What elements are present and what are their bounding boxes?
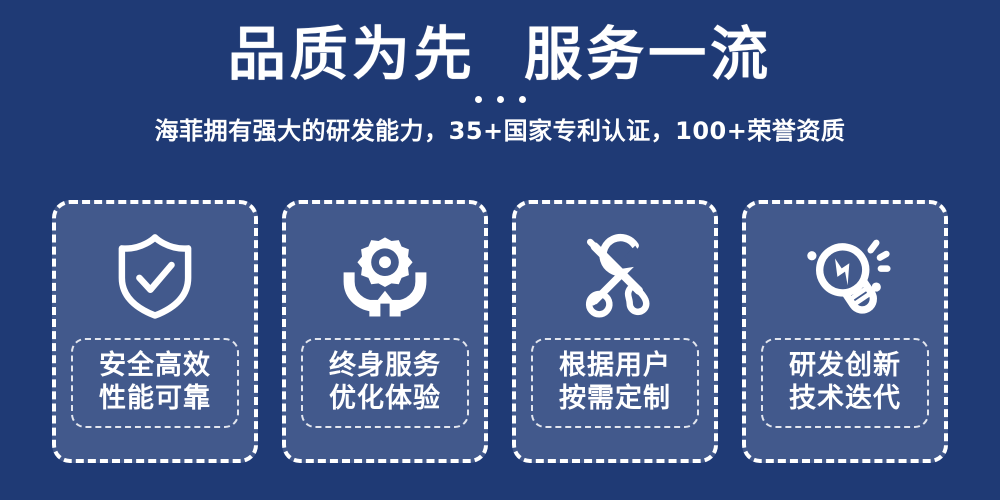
feature-card-label: 终身服务 优化体验	[301, 338, 469, 428]
feature-card-label: 安全高效 性能可靠	[71, 338, 239, 428]
feature-card-service[interactable]: 终身服务 优化体验	[282, 200, 488, 463]
feature-card-label-line1: 终身服务	[303, 349, 467, 382]
feature-card-label-line2: 技术迭代	[763, 382, 927, 415]
feature-card-security[interactable]: 安全高效 性能可靠	[52, 200, 258, 463]
banner-header: 品质为先 服务一流 海菲拥有强大的研发能力，35+国家专利认证，100+荣誉资质	[0, 0, 1000, 146]
screwdriver-wrench-icon	[569, 230, 661, 322]
feature-card-list: 安全高效 性能可靠	[52, 200, 948, 463]
page-subtitle: 海菲拥有强大的研发能力，35+国家专利认证，100+荣誉资质	[0, 104, 1000, 146]
promo-banner: 品质为先 服务一流 海菲拥有强大的研发能力，35+国家专利认证，100+荣誉资质…	[0, 0, 1000, 500]
shield-check-icon	[109, 230, 201, 322]
feature-card-label-line2: 优化体验	[303, 382, 467, 415]
dot-icon	[497, 96, 504, 103]
feature-card-label-line1: 安全高效	[73, 349, 237, 382]
feature-card-customization[interactable]: 根据用户 按需定制	[512, 200, 718, 463]
feature-card-label-line1: 研发创新	[763, 349, 927, 382]
feature-card-innovation[interactable]: 研发创新 技术迭代	[742, 200, 948, 463]
feature-card-label-line1: 根据用户	[533, 349, 697, 382]
dot-icon	[475, 96, 482, 103]
feature-card-label-line2: 性能可靠	[73, 382, 237, 415]
gear-hands-icon	[339, 230, 431, 322]
feature-card-label: 研发创新 技术迭代	[761, 338, 929, 428]
dot-icon	[519, 96, 526, 103]
dot-separator	[0, 94, 1000, 104]
feature-card-label: 根据用户 按需定制	[531, 338, 699, 428]
lightbulb-idea-icon	[799, 230, 891, 322]
page-title: 品质为先 服务一流	[0, 0, 1000, 86]
feature-card-label-line2: 按需定制	[533, 382, 697, 415]
